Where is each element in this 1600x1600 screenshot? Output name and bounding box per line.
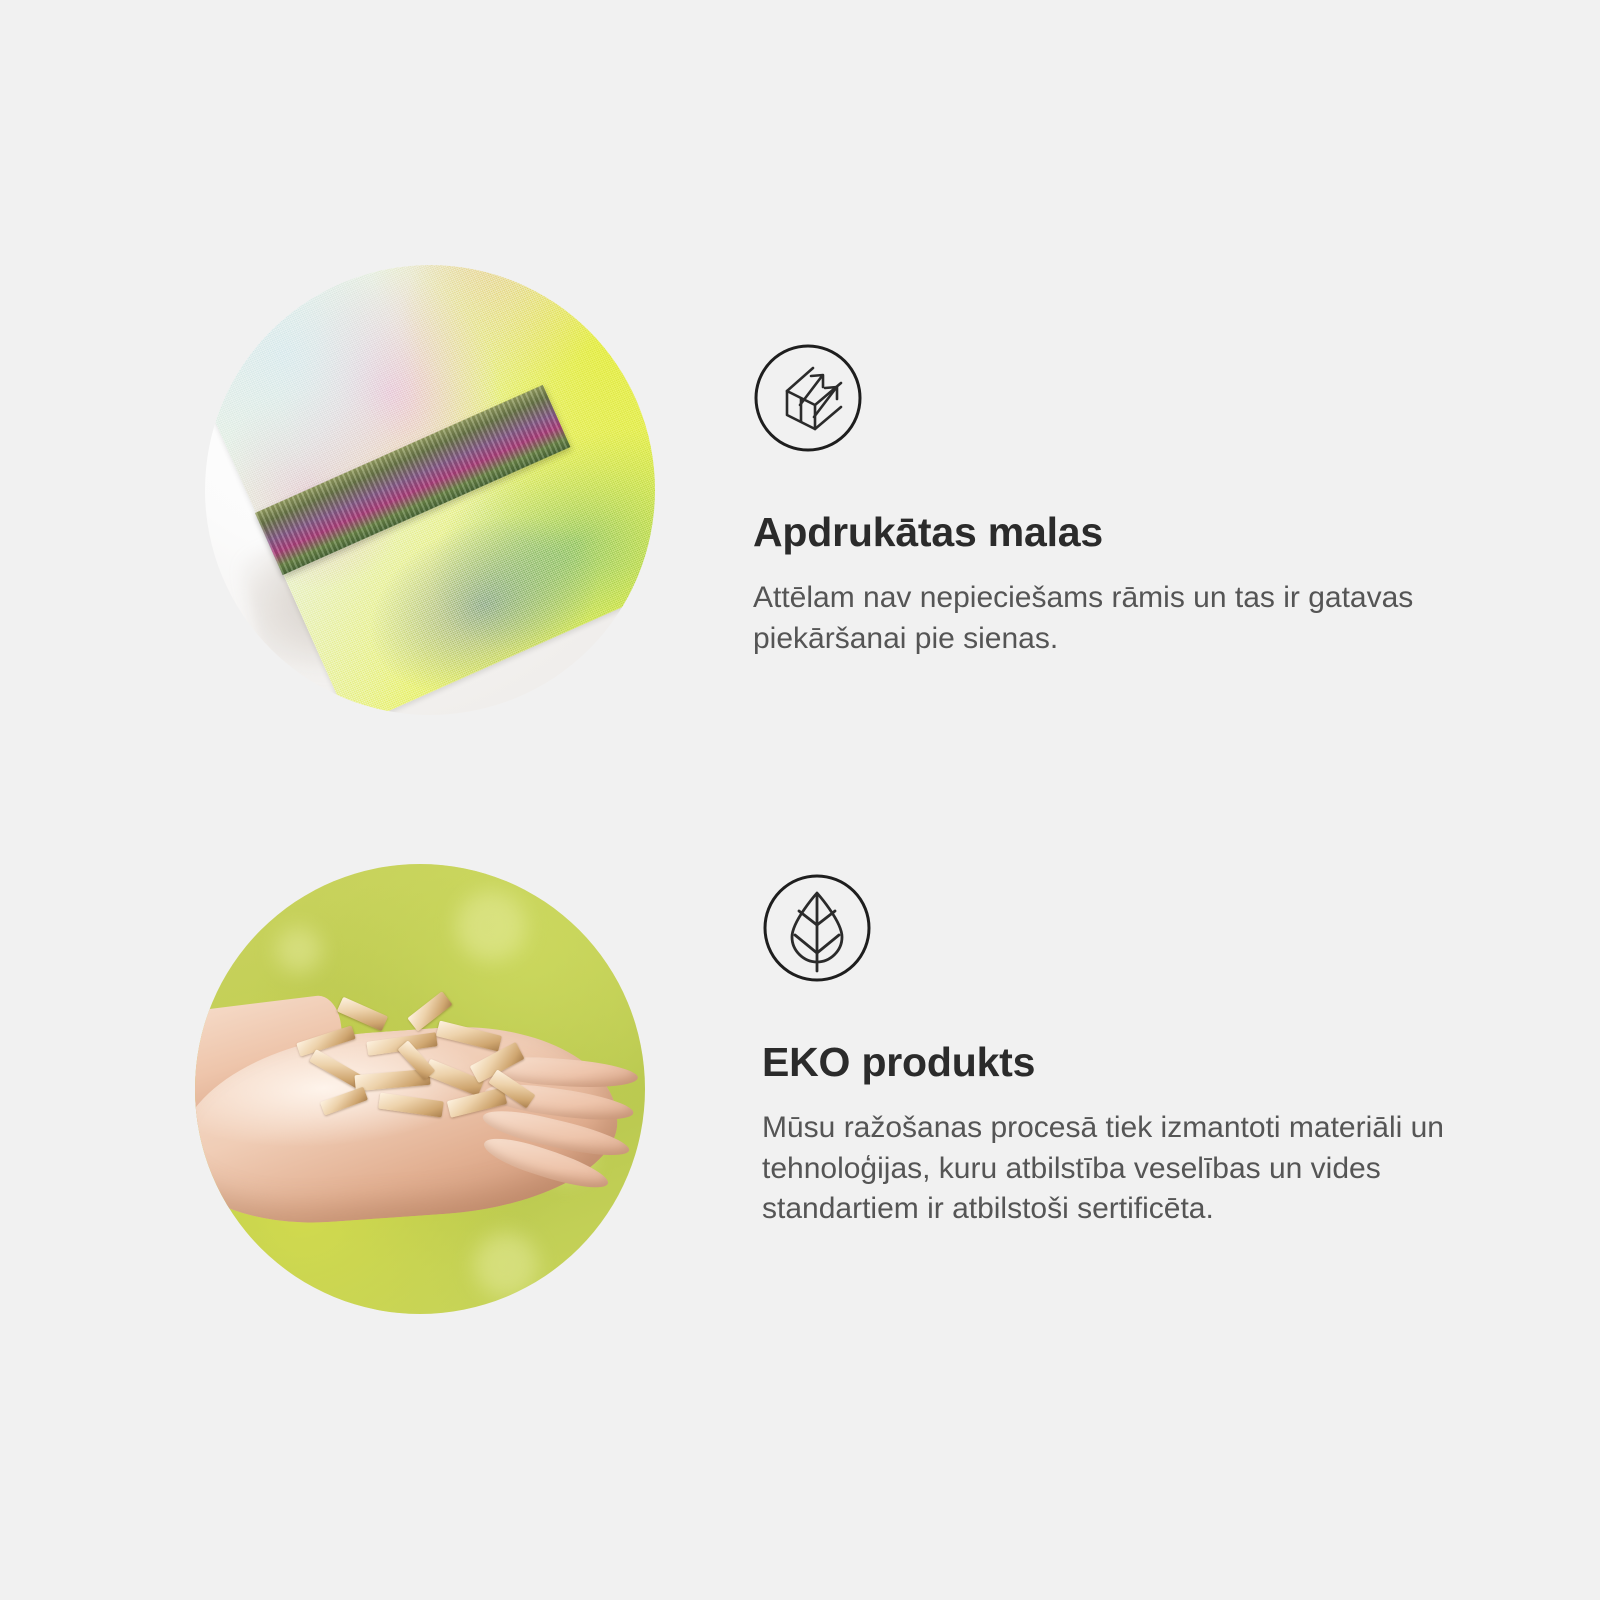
- feature-1-media: [205, 265, 655, 715]
- feature-printed-edges: [205, 265, 655, 715]
- leaf-icon: [762, 873, 872, 983]
- feature-2-title: EKO produkts: [762, 1039, 1482, 1086]
- wood-chip: [378, 1092, 443, 1116]
- feature-2-media: [195, 864, 645, 1314]
- bokeh-dot: [276, 927, 322, 973]
- bokeh-dot: [456, 891, 526, 961]
- printed-edges-icon: [753, 343, 863, 453]
- feature-1-title: Apdrukātas malas: [753, 509, 1473, 556]
- feature-1-description: Attēlam nav nepieciešams rāmis un tas ir…: [753, 578, 1453, 660]
- feature-2-info: EKO produkts Mūsu ražošanas procesā tiek…: [762, 873, 1482, 1230]
- wood-chip: [337, 997, 388, 1031]
- wood-chips: [280, 991, 570, 1147]
- wood-chip: [436, 1021, 502, 1052]
- feature-eco-product: [195, 864, 645, 1314]
- wood-chip: [297, 1026, 357, 1057]
- eco-scene: [195, 864, 645, 1314]
- canvas-scene: [205, 265, 655, 715]
- feature-2-description: Mūsu ražošanas procesā tiek izmantoti ma…: [762, 1108, 1462, 1230]
- hands: [195, 986, 645, 1238]
- canvas-print-corner-photo: [205, 265, 655, 715]
- feature-1-info: Apdrukātas malas Attēlam nav nepieciešam…: [753, 343, 1473, 659]
- wood-chip: [320, 1086, 368, 1115]
- hands-with-wood-chips-photo: [195, 864, 645, 1314]
- bokeh-dot: [474, 1233, 538, 1297]
- product-features-page: Apdrukātas malas Attēlam nav nepieciešam…: [0, 0, 1600, 1600]
